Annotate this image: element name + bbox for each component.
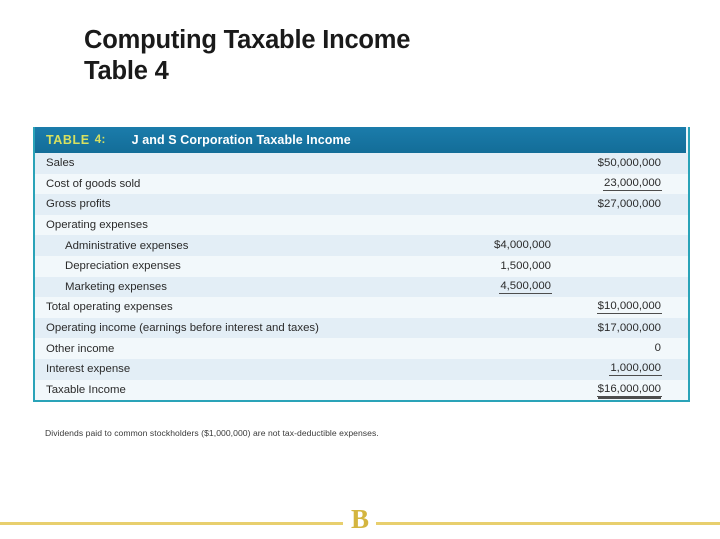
table-row: Gross profits$27,000,000: [35, 194, 688, 215]
table-label-number: 4:: [95, 134, 106, 146]
exhibit-table-card: TABLE 4: J and S Corporation Taxable Inc…: [33, 127, 690, 402]
amount-value: 0: [654, 342, 662, 355]
page-title-line-2: Table 4: [84, 56, 644, 87]
table-footnote: Dividends paid to common stockholders ($…: [45, 428, 379, 438]
table-row: Sales$50,000,000: [35, 153, 688, 174]
amount-value: $27,000,000: [597, 198, 662, 211]
footer-rule-left: [0, 522, 343, 525]
table-cell-label: Administrative expenses: [46, 240, 435, 252]
table-cell-total-amount: $17,000,000: [535, 322, 677, 335]
table-cell-label: Operating expenses: [46, 219, 416, 231]
table-cell-total-amount: 0: [535, 342, 677, 355]
table-cell-total-amount: $10,000,000: [535, 300, 677, 314]
slide-footer: B: [0, 512, 720, 539]
table-header-band: TABLE 4: J and S Corporation Taxable Inc…: [35, 127, 686, 153]
table-cell-total-amount: 1,000,000: [535, 362, 677, 376]
brand-monogram-icon: B: [344, 504, 376, 534]
amount-value: $4,000,000: [493, 239, 552, 252]
table-row: Interest expense1,000,000: [35, 359, 688, 380]
table-row: Depreciation expenses1,500,000: [35, 256, 688, 277]
table-row: Other income0: [35, 338, 688, 359]
table-cell-detail-amount: 1,500,000: [435, 260, 554, 273]
table-row: Administrative expenses$4,000,000: [35, 235, 688, 256]
table-cell-total-amount: $16,000,000: [535, 383, 677, 397]
table-row: Taxable Income$16,000,000: [35, 380, 688, 401]
table-label-word: TABLE: [46, 133, 90, 147]
amount-value: 23,000,000: [603, 177, 662, 191]
table-row: Marketing expenses4,500,000: [35, 277, 688, 298]
page-title-line-1: Computing Taxable Income: [84, 25, 644, 56]
table-cell-label: Operating income (earnings before intere…: [46, 322, 416, 334]
table-cell-label: Marketing expenses: [46, 281, 435, 293]
amount-value: $17,000,000: [597, 322, 662, 335]
table-row: Operating income (earnings before intere…: [35, 318, 688, 339]
table-row: Operating expenses: [35, 215, 688, 236]
table-cell-detail-amount: 4,500,000: [435, 280, 554, 294]
amount-value: $16,000,000: [597, 383, 662, 397]
table-row: Total operating expenses$10,000,000: [35, 297, 688, 318]
amount-value: 1,000,000: [609, 362, 662, 376]
table-cell-label: Other income: [46, 343, 416, 355]
amount-value: 1,500,000: [499, 260, 552, 273]
table-row: Cost of goods sold23,000,000: [35, 174, 688, 195]
table-cell-label: Gross profits: [46, 198, 416, 210]
amount-value: 4,500,000: [499, 280, 552, 294]
table-cell-label: Depreciation expenses: [46, 260, 435, 272]
table-cell-detail-amount: $4,000,000: [435, 239, 554, 252]
table-cell-total-amount: $50,000,000: [535, 157, 677, 170]
amount-value: $50,000,000: [597, 157, 662, 170]
table-body: Sales$50,000,000Cost of goods sold23,000…: [35, 153, 688, 400]
amount-value: $10,000,000: [597, 300, 662, 314]
table-cell-label: Sales: [46, 157, 416, 169]
table-cell-total-amount: $27,000,000: [535, 198, 677, 211]
table-cell-label: Taxable Income: [46, 384, 416, 396]
page-title: Computing Taxable Income Table 4: [84, 25, 644, 87]
footer-rule-right: [376, 522, 720, 525]
table-caption: J and S Corporation Taxable Income: [132, 133, 351, 147]
table-cell-label: Cost of goods sold: [46, 178, 416, 190]
table-cell-label: Interest expense: [46, 363, 416, 375]
table-cell-total-amount: 23,000,000: [535, 177, 677, 191]
table-cell-label: Total operating expenses: [46, 301, 416, 313]
